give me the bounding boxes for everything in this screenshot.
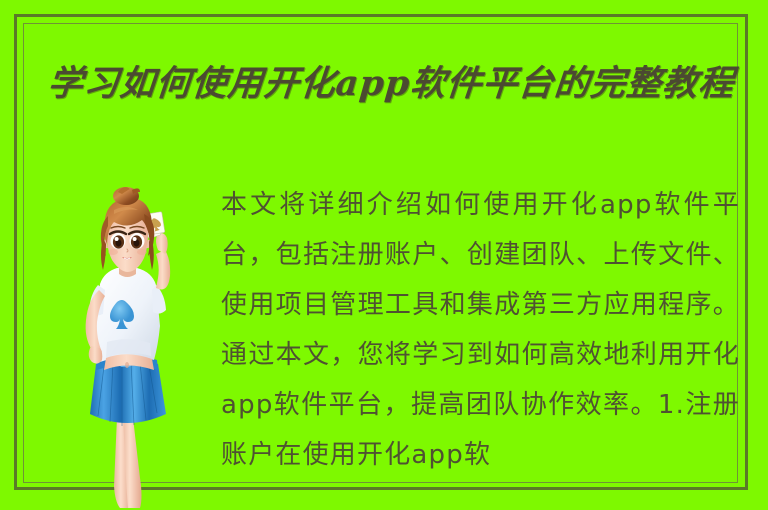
article-body-text: 本文将详细介绍如何使用开化app软件平台，包括注册账户、创建团队、上传文件、使用… [221, 180, 740, 510]
character-illustration-svg [70, 186, 184, 510]
character-illustration [70, 186, 184, 510]
page-title: 学习如何使用开化app软件平台的完整教程 [45, 58, 750, 110]
poster-canvas: 学习如何使用开化app软件平台的完整教程 本文将详细介绍如何使用开化app软件平… [0, 0, 768, 510]
